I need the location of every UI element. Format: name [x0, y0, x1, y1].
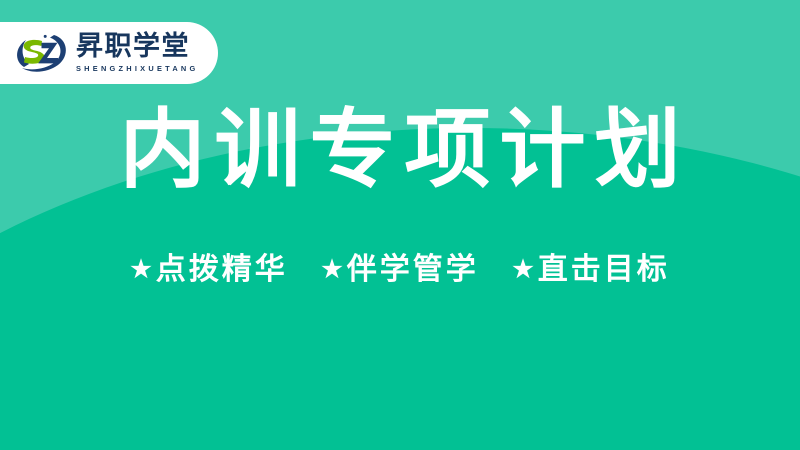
logo-brand-cn: 昇职学堂	[76, 33, 199, 60]
feature-list: ★点拨精华 ★伴学管学 ★直击目标	[0, 252, 800, 288]
star-icon: ★	[130, 257, 152, 283]
feature-item-3: ★直击目标	[512, 252, 670, 288]
feature-label-3: 直击目标	[538, 253, 670, 286]
logo-badge[interactable]: 昇职学堂 SHENGZHIXUETANG	[0, 22, 218, 84]
feature-item-1: ★点拨精华	[130, 252, 288, 288]
feature-item-2: ★伴学管学	[321, 252, 479, 288]
logo-wordmark: 昇职学堂 SHENGZHIXUETANG	[76, 33, 199, 72]
feature-label-2: 伴学管学	[347, 253, 479, 286]
headline-title: 内训专项计划	[0, 107, 800, 193]
star-icon: ★	[321, 257, 343, 283]
logo-brand-en: SHENGZHIXUETANG	[76, 65, 199, 72]
promo-banner: 昇职学堂 SHENGZHIXUETANG 内训专项计划 ★点拨精华 ★伴学管学 …	[0, 0, 800, 450]
sz-monogram-logo-icon	[12, 29, 72, 77]
feature-label-1: 点拨精华	[156, 253, 288, 286]
star-icon: ★	[512, 257, 534, 283]
